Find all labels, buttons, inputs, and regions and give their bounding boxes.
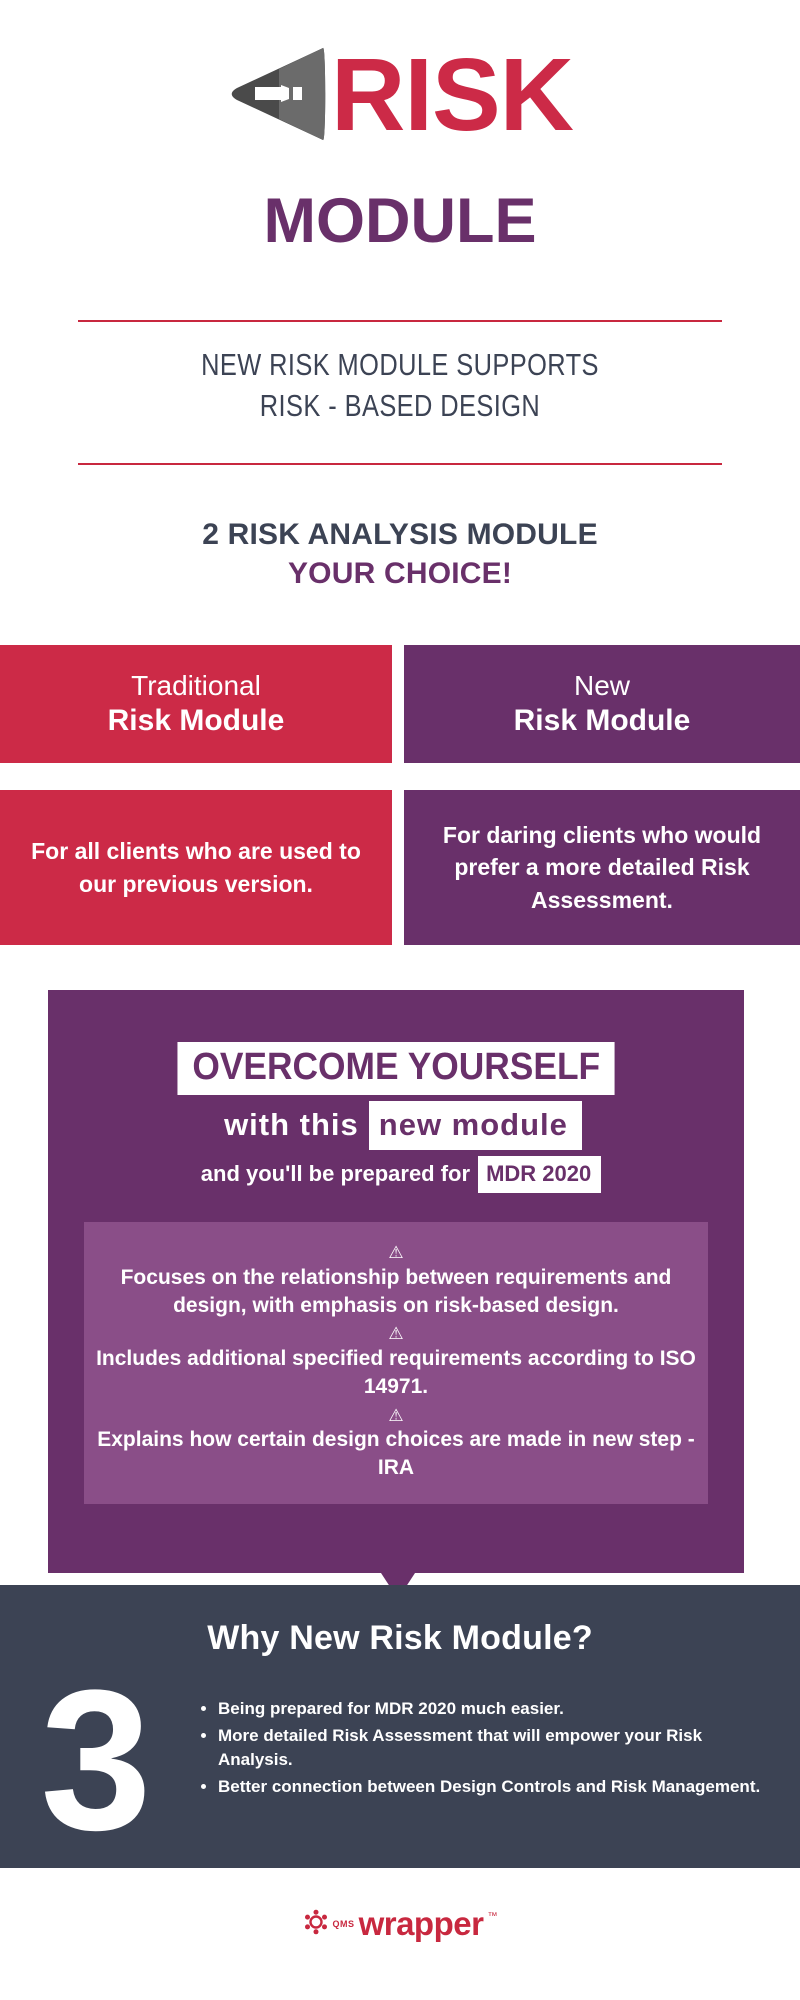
list-item: Being prepared for MDR 2020 much easier. <box>218 1697 770 1721</box>
footer-big-number: 3 <box>0 1661 196 1861</box>
feature-item: ⚠ Includes additional specified requirem… <box>84 1325 708 1400</box>
choice-heading-line-2: YOUR CHOICE! <box>0 554 800 593</box>
feature-headline: OVERCOME YOURSELF with this new module a… <box>48 990 744 1193</box>
divider-top <box>78 320 722 322</box>
footer-benefit-list: Being prepared for MDR 2020 much easier.… <box>198 1697 770 1803</box>
brand-name: wrapper <box>359 1905 484 1943</box>
headline-overcome-yourself: OVERCOME YOURSELF <box>177 1042 615 1095</box>
warning-triangle-icon: ⚠ <box>84 1407 708 1426</box>
new-label-top: New <box>574 669 630 703</box>
footer-section: Why New Risk Module? 3 Being prepared fo… <box>0 1585 800 1868</box>
traditional-module-description: For all clients who are used to our prev… <box>0 790 392 945</box>
new-module-header[interactable]: New Risk Module <box>404 645 800 763</box>
traditional-module-header[interactable]: Traditional Risk Module <box>0 645 392 763</box>
page-subtitle-module: MODULE <box>0 190 800 253</box>
new-label-bottom: Risk Module <box>514 703 691 740</box>
warning-triangle-icon: ⚠ <box>84 1244 708 1263</box>
brand-qms-label: QMS <box>333 1919 355 1929</box>
feature-panel: OVERCOME YOURSELF with this new module a… <box>48 990 744 1573</box>
play-triangle-icon <box>227 42 327 146</box>
qms-circle-icon <box>303 1909 329 1940</box>
feature-item-text: Includes additional specified requiremen… <box>96 1347 696 1398</box>
headline-mdr-2020: MDR 2020 <box>478 1156 601 1193</box>
subtitle-line-2: RISK - BASED DESIGN <box>72 386 728 427</box>
page-title: RISK <box>331 43 573 146</box>
feature-item-text: Focuses on the relationship between requ… <box>121 1266 672 1317</box>
headline-prepared-for: and you'll be prepared for <box>191 1156 478 1193</box>
divider-bottom <box>78 463 722 465</box>
footer-title: Why New Risk Module? <box>0 1585 800 1658</box>
warning-triangle-icon: ⚠ <box>84 1325 708 1344</box>
traditional-label-top: Traditional <box>131 669 261 703</box>
feature-item: ⚠ Explains how certain design choices ar… <box>84 1407 708 1482</box>
list-item: Better connection between Design Control… <box>218 1775 770 1799</box>
list-item: More detailed Risk Assessment that will … <box>218 1724 770 1772</box>
infographic-page: RISK MODULE NEW RISK MODULE SUPPORTS RIS… <box>0 0 800 2000</box>
header-logo-row: RISK <box>0 42 800 146</box>
feature-item-text: Explains how certain design choices are … <box>97 1428 695 1479</box>
headline-with-this: with this <box>210 1101 369 1150</box>
subtitle-line-1: NEW RISK MODULE SUPPORTS <box>72 345 728 386</box>
new-module-description-box: For daring clients who would prefer a mo… <box>404 790 800 945</box>
supporting-subtitle: NEW RISK MODULE SUPPORTS RISK - BASED DE… <box>72 345 728 427</box>
headline-new-module: new module <box>369 1101 582 1150</box>
choice-heading-line-1: 2 RISK ANALYSIS MODULE <box>0 515 800 554</box>
feature-item: ⚠ Focuses on the relationship between re… <box>84 1244 708 1319</box>
traditional-label-bottom: Risk Module <box>108 703 285 740</box>
choice-heading: 2 RISK ANALYSIS MODULE YOUR CHOICE! <box>0 515 800 593</box>
brand-logo[interactable]: QMS wrapper ™ <box>0 1905 800 1943</box>
feature-list-box: ⚠ Focuses on the relationship between re… <box>84 1222 708 1504</box>
traditional-module-description-box: For all clients who are used to our prev… <box>0 790 392 945</box>
brand-trademark: ™ <box>487 1911 497 1922</box>
new-module-description: For daring clients who would prefer a mo… <box>404 790 800 945</box>
